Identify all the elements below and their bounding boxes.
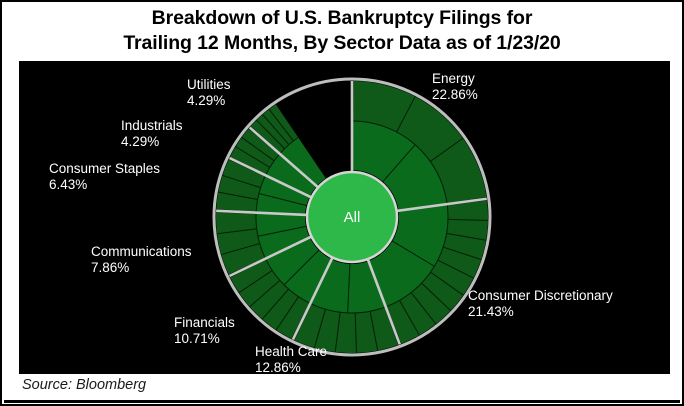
title-line-1: Breakdown of U.S. Bankruptcy Filings for <box>2 6 682 31</box>
sunburst-chart: All <box>19 61 670 374</box>
plot-area: All Energy 22.86% Consumer Discretionary… <box>19 61 670 374</box>
label-communications: Communications 7.86% <box>91 244 192 276</box>
label-communications-pct: 7.86% <box>91 260 192 276</box>
label-communications-name: Communications <box>91 244 192 260</box>
label-energy-pct: 22.86% <box>432 87 478 103</box>
label-utilities: Utilities 4.29% <box>187 77 231 109</box>
label-utilities-pct: 4.29% <box>187 93 231 109</box>
center-label: All <box>344 209 361 226</box>
label-energy-name: Energy <box>432 71 478 87</box>
label-financials-pct: 10.71% <box>174 331 235 347</box>
label-consumer-staples: Consumer Staples 6.43% <box>49 161 160 193</box>
label-consumer-discretionary-pct: 21.43% <box>468 304 613 320</box>
label-consumer-discretionary: Consumer Discretionary 21.43% <box>468 288 613 320</box>
footer-rule <box>4 400 680 403</box>
source-note: Source: Bloomberg <box>22 377 146 393</box>
label-health-care-name: Health Care <box>255 344 327 360</box>
label-consumer-staples-name: Consumer Staples <box>49 161 160 177</box>
label-consumer-staples-pct: 6.43% <box>49 177 160 193</box>
label-industrials-name: Industrials <box>121 118 183 134</box>
label-financials: Financials 10.71% <box>174 315 235 347</box>
label-health-care-pct: 12.86% <box>255 360 327 374</box>
label-financials-name: Financials <box>174 315 235 331</box>
label-utilities-name: Utilities <box>187 77 231 93</box>
title-line-2: Trailing 12 Months, By Sector Data as of… <box>2 31 682 56</box>
label-health-care: Health Care 12.86% <box>255 344 327 374</box>
label-consumer-discretionary-name: Consumer Discretionary <box>468 288 613 304</box>
label-industrials: Industrials 4.29% <box>121 118 183 150</box>
label-industrials-pct: 4.29% <box>121 134 183 150</box>
chart-figure: Breakdown of U.S. Bankruptcy Filings for… <box>0 0 684 406</box>
page-title: Breakdown of U.S. Bankruptcy Filings for… <box>2 6 682 56</box>
label-energy: Energy 22.86% <box>432 71 478 103</box>
